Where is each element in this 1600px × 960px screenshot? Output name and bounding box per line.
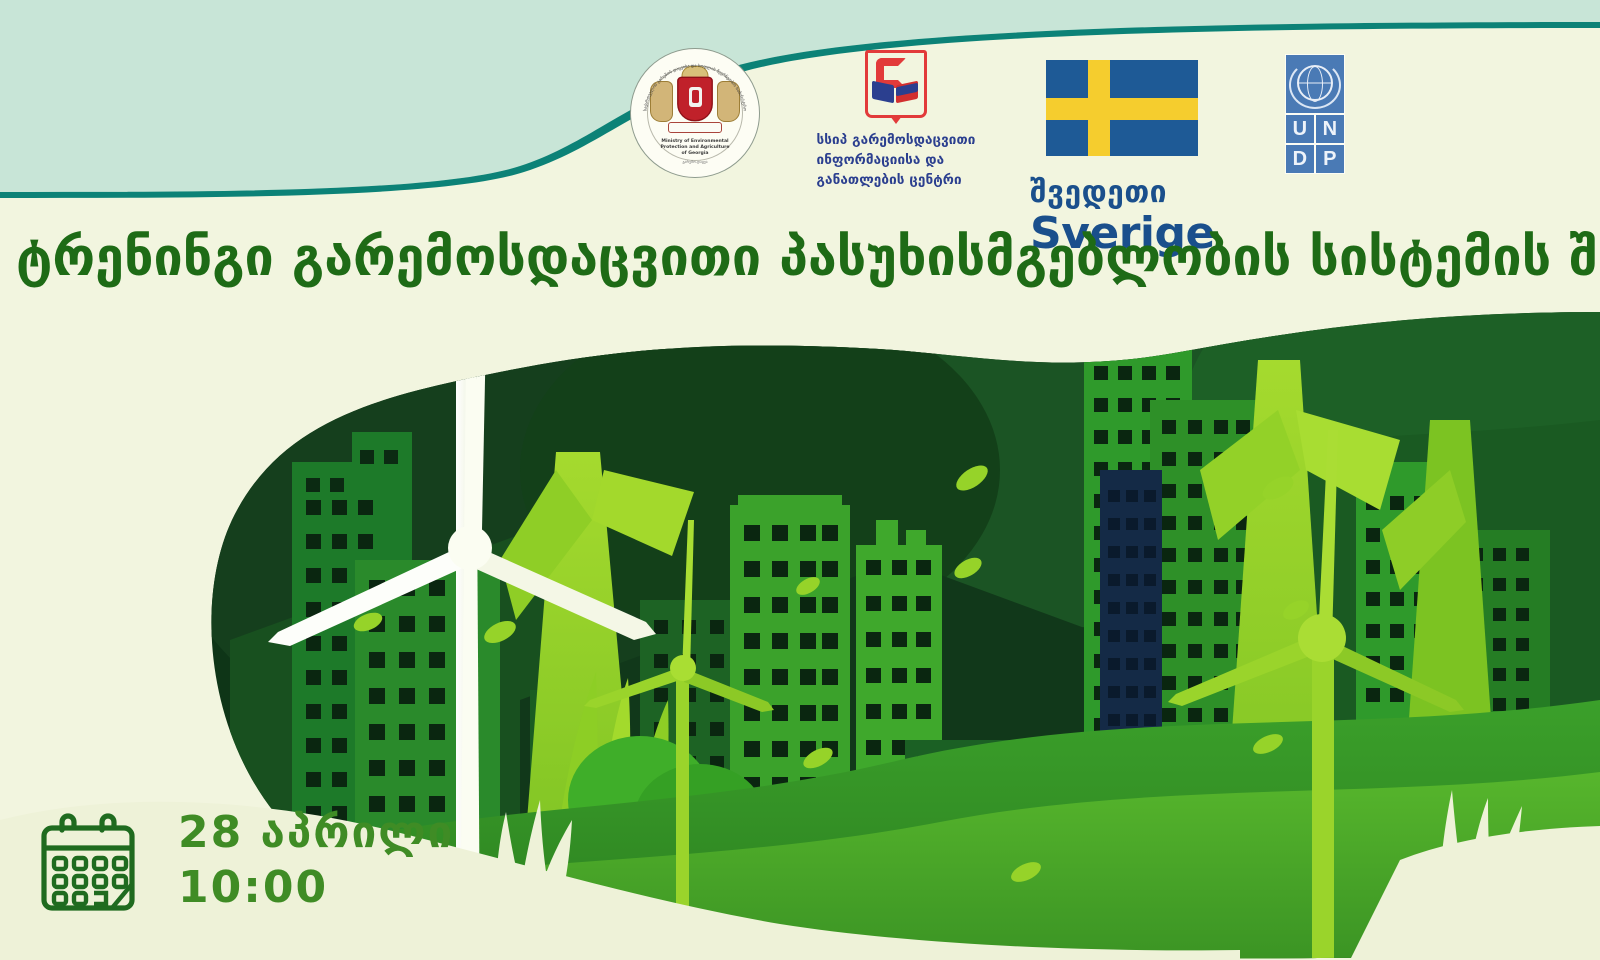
logo-undp: U N D P	[1267, 48, 1363, 174]
page-title: ტრენინგი გარემოსდაცვითი პასუხისმგებლობის…	[16, 228, 1584, 288]
ministry-georgian-subline: გარემო-დაცვა	[630, 160, 760, 164]
siec-emblem-icon	[865, 50, 927, 118]
event-datetime-block: 28 აპრილი 10:00	[36, 800, 454, 916]
logo-ministry-of-environment-georgia: საქართველოს გარემოს დაცვისა და სოფლის მე…	[630, 48, 760, 178]
undp-letter-n: N	[1315, 114, 1345, 144]
partner-logo-row: საქართველოს გარემოს დაცვისა და სოფლის მე…	[630, 48, 1363, 178]
siec-line-2: ინფორმაციისა და	[817, 150, 976, 170]
un-emblem-icon	[1285, 54, 1345, 114]
sweden-label-georgian: შვედეთი	[1030, 176, 1215, 210]
siec-line-3: განათლების ცენტრი	[817, 170, 976, 190]
ministry-arc-text: საქართველოს გარემოს დაცვისა და სოფლის მე…	[630, 48, 760, 178]
undp-letter-d: D	[1285, 144, 1315, 174]
ministry-name-line-3: of Georgia	[630, 151, 760, 157]
logo-siec-environmental-information-education-centre: სსიპ გარემოსდაცვითი ინფორმაციისა და განა…	[806, 48, 986, 190]
siec-line-1: სსიპ გარემოსდაცვითი	[817, 130, 976, 150]
calendar-icon	[36, 808, 140, 916]
undp-letter-u: U	[1285, 114, 1315, 144]
poster-canvas: საქართველოს გარემოს დაცვისა და სოფლის მე…	[0, 0, 1600, 960]
event-date: 28 აპრილი	[178, 806, 454, 860]
sweden-flag-icon	[1046, 60, 1198, 156]
undp-letter-p: P	[1315, 144, 1345, 174]
svg-text:საქართველოს გარემოს დაცვისა და: საქართველოს გარემოს დაცვისა და სოფლის მე…	[642, 63, 748, 112]
event-time: 10:00	[178, 860, 454, 916]
